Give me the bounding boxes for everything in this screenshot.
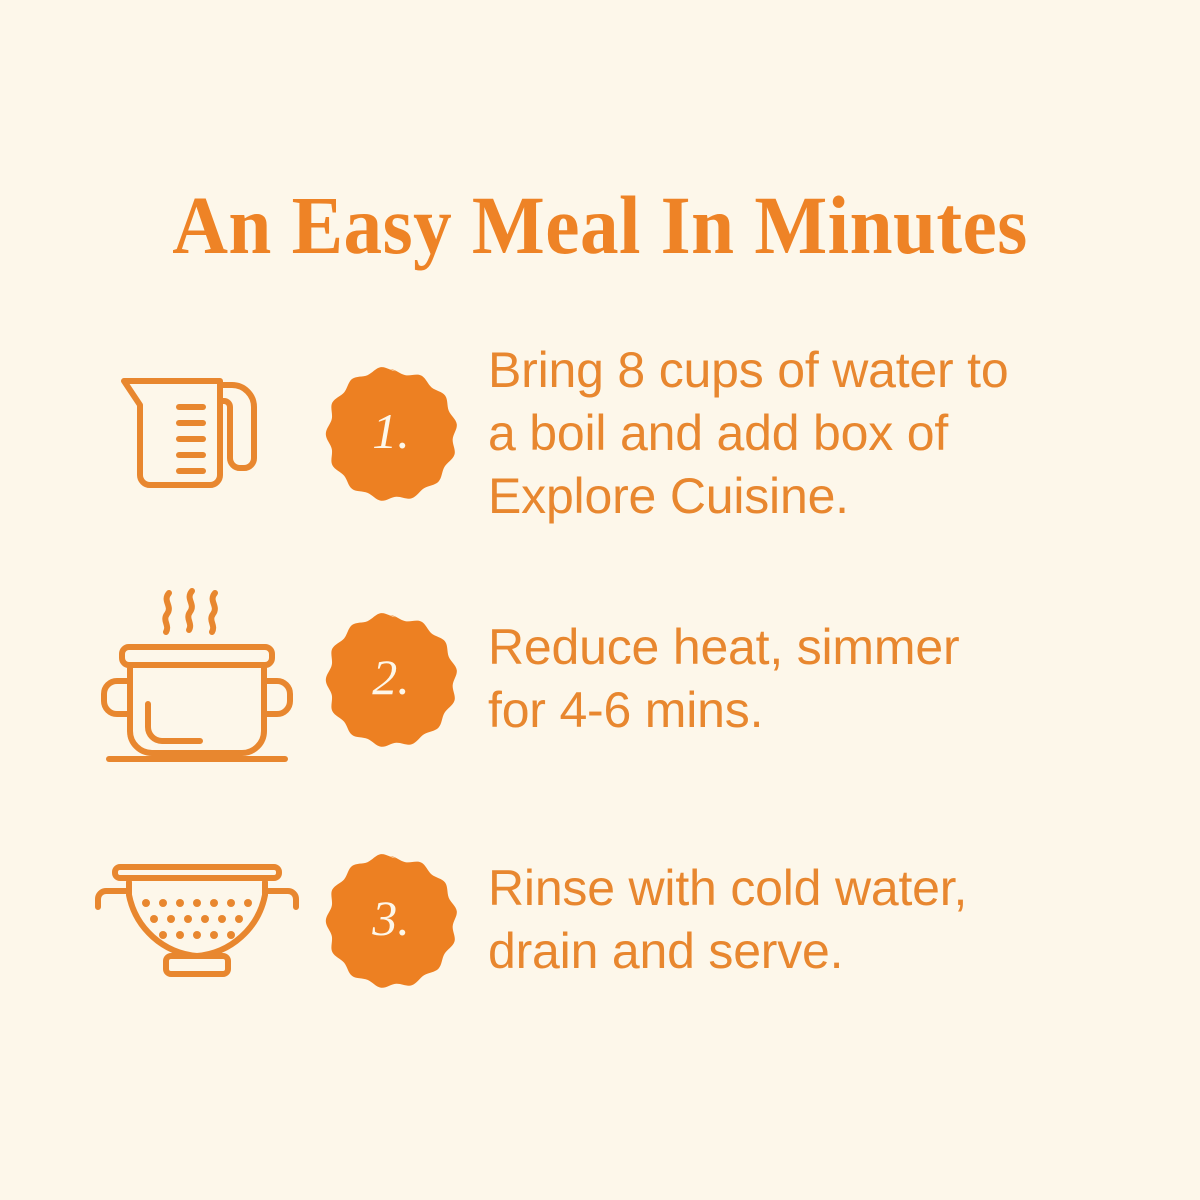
step-1-badge-cell: 1. (310, 365, 470, 501)
step-badge-1: 1. (322, 365, 458, 501)
step-2-text-cell: Reduce heat, simmer for 4-6 mins. (470, 616, 1144, 742)
step-2-badge-cell: 2. (310, 611, 470, 747)
page-title: An Easy Meal In Minutes (172, 184, 1028, 267)
step-item-2: 2. Reduce heat, simmer for 4-6 mins. (84, 548, 1144, 810)
step-badge-2-number: 2. (372, 652, 410, 702)
page-title-container: An Easy Meal In Minutes (0, 128, 1200, 322)
step-1-text: Bring 8 cups of water to a boil and add … (488, 339, 1144, 528)
steps-list: 1. Bring 8 cups of water to a boil and a… (84, 318, 1144, 1030)
step-3-text-cell: Rinse with cold water, drain and serve. (470, 857, 1144, 983)
step-item-1: 1. Bring 8 cups of water to a boil and a… (84, 318, 1144, 548)
colander-icon (90, 855, 304, 985)
step-2-icon-cell (84, 579, 310, 779)
step-3-text-line-2: drain and serve. (488, 920, 1144, 983)
step-2-text-line-2: for 4-6 mins. (488, 679, 1144, 742)
step-1-text-cell: Bring 8 cups of water to a boil and add … (470, 339, 1144, 528)
step-item-3: 3. Rinse with cold water, drain and serv… (84, 810, 1144, 1030)
step-badge-3: 3. (322, 852, 458, 988)
step-2-text-line-1: Reduce heat, simmer (488, 616, 1144, 679)
step-badge-2: 2. (322, 611, 458, 747)
step-1-text-line-1: Bring 8 cups of water to (488, 339, 1144, 402)
measuring-cup-icon (112, 363, 282, 503)
step-3-icon-cell (84, 855, 310, 985)
step-2-text: Reduce heat, simmer for 4-6 mins. (488, 616, 1144, 742)
step-3-text-line-1: Rinse with cold water, (488, 857, 1144, 920)
step-1-text-line-3: Explore Cuisine. (488, 465, 1144, 528)
step-badge-1-number: 1. (372, 406, 410, 456)
cooking-pot-icon (97, 579, 297, 779)
recipe-instructions-poster: An Easy Meal In Minutes (0, 0, 1200, 1200)
step-3-text: Rinse with cold water, drain and serve. (488, 857, 1144, 983)
step-1-icon-cell (84, 363, 310, 503)
step-badge-3-number: 3. (372, 893, 410, 943)
step-3-badge-cell: 3. (310, 852, 470, 988)
step-1-text-line-2: a boil and add box of (488, 402, 1144, 465)
